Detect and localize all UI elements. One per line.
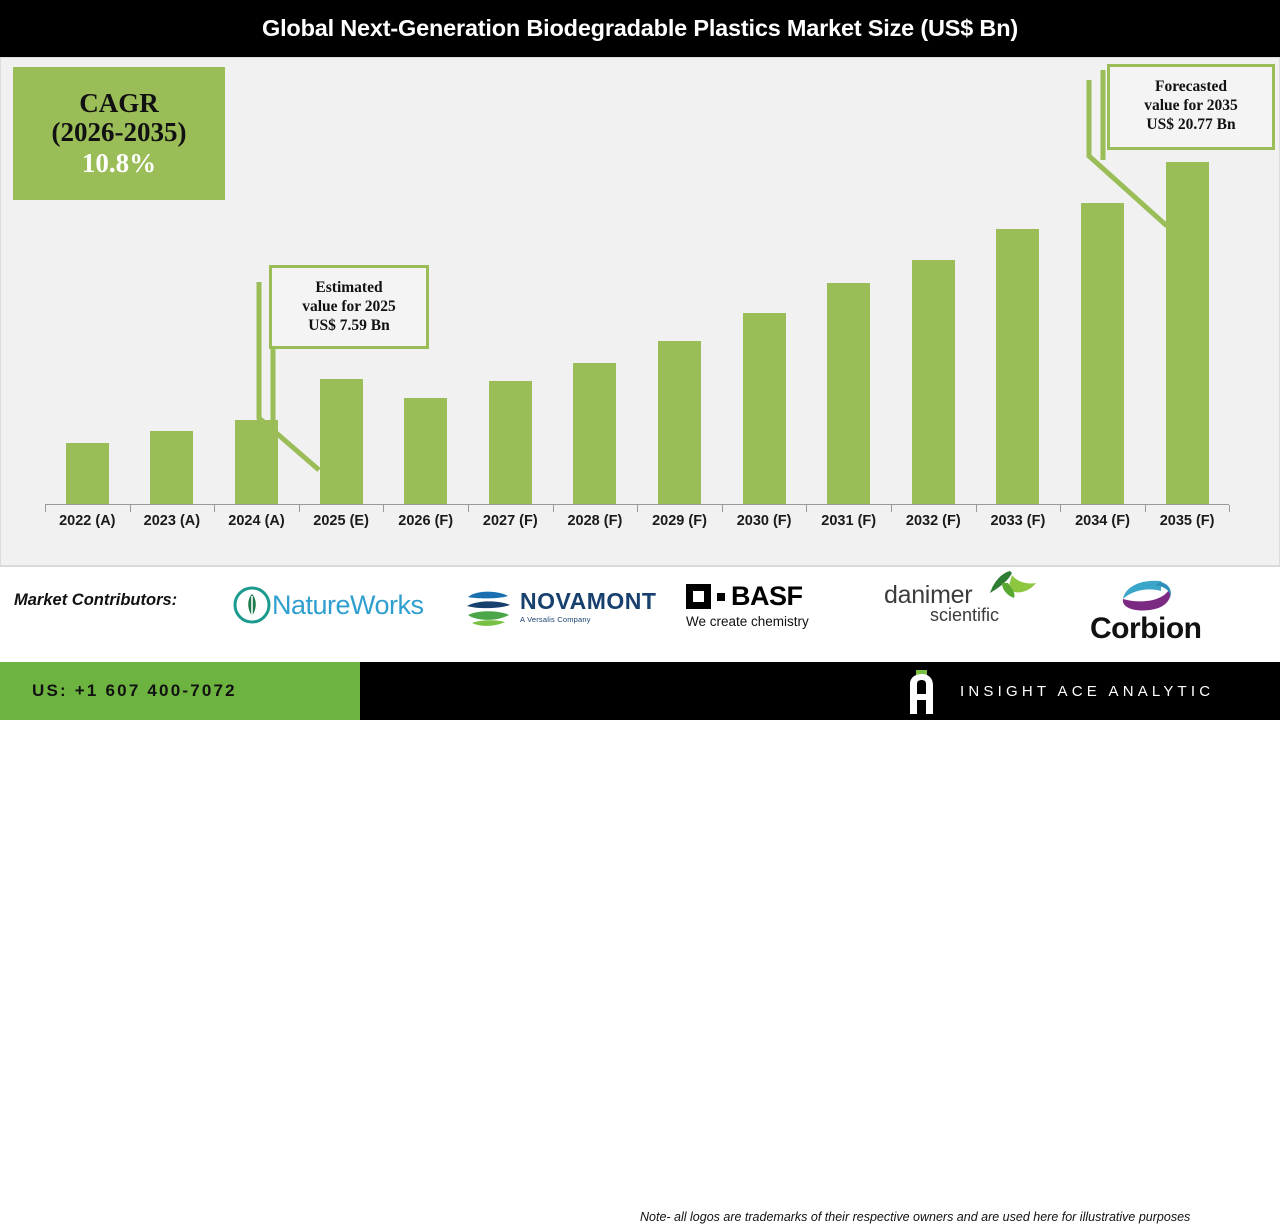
x-axis-label-2026: 2026 (F): [383, 513, 469, 529]
footer-bar: US: +1 607 400-7072 INSIGHT ACE ANALYTIC: [0, 662, 1280, 720]
basf-dot-icon: [717, 593, 725, 601]
cagr-box: CAGR (2026-2035) 10.8%: [13, 67, 225, 200]
novamont-wordmark: NOVAMONT: [520, 590, 656, 613]
x-axis-label-2029: 2029 (F): [637, 513, 723, 529]
insightace-logo-icon: [900, 670, 944, 714]
bar-2024: [235, 420, 278, 504]
x-axis-label-2032: 2032 (F): [890, 513, 976, 529]
x-axis-label-2023: 2023 (A): [129, 513, 215, 529]
x-axis-label-2033: 2033 (F): [975, 513, 1061, 529]
bar-2023: [150, 431, 193, 504]
x-axis-label-2027: 2027 (F): [467, 513, 553, 529]
footer-phone-number[interactable]: US: +1 607 400-7072: [32, 681, 237, 701]
novamont-text-block: NOVAMONT A Versalis Company: [520, 590, 656, 624]
bar-2033: [996, 229, 1039, 504]
logo-natureworks: NatureWorks: [232, 585, 424, 625]
market-contributors-label: Market Contributors:: [14, 591, 177, 610]
estimated-value-callout: Estimated value for 2025 US$ 7.59 Bn: [269, 265, 429, 349]
x-axis-label-2024: 2024 (A): [214, 513, 300, 529]
novamont-mark-icon: [462, 583, 514, 631]
estimated-line-2: value for 2025: [272, 297, 426, 316]
logo-basf: BASF We create chemistry: [686, 581, 809, 629]
natureworks-wordmark: NatureWorks: [272, 590, 424, 621]
bar-2032: [912, 260, 955, 504]
cagr-period: (2026-2035): [52, 118, 187, 147]
logo-novamont: NOVAMONT A Versalis Company: [462, 583, 656, 631]
x-axis-tick: [468, 505, 469, 512]
estimated-line-3: US$ 7.59 Bn: [272, 316, 426, 335]
market-contributors-strip: Market Contributors: NatureWorks NOVAMON…: [0, 566, 1280, 663]
x-axis-label-2022: 2022 (A): [44, 513, 130, 529]
basf-tagline: We create chemistry: [686, 614, 809, 629]
bar-2028: [573, 363, 616, 504]
x-axis-label-2030: 2030 (F): [721, 513, 807, 529]
corbion-wordmark: Corbion: [1090, 614, 1201, 644]
x-axis-tick: [383, 505, 384, 512]
footer-brand-block: INSIGHT ACE ANALYTIC: [960, 662, 1214, 720]
x-axis-label-2034: 2034 (F): [1060, 513, 1146, 529]
infographic-page: Global Next-Generation Biodegradable Pla…: [0, 0, 1280, 720]
x-axis-tick: [722, 505, 723, 512]
forecasted-line-2: value for 2035: [1110, 96, 1272, 115]
forecasted-value-callout: Forecasted value for 2035 US$ 20.77 Bn: [1107, 64, 1275, 150]
bar-2022: [66, 443, 109, 504]
x-axis-tick: [891, 505, 892, 512]
logo-trademark-note: Note- all logos are trademarks of their …: [640, 1210, 1274, 1226]
x-axis-label-2031: 2031 (F): [806, 513, 892, 529]
x-axis-label-2035: 2035 (F): [1144, 513, 1230, 529]
danimer-leaf-icon: [982, 569, 1038, 599]
danimer-wordmark: danimer: [884, 581, 972, 609]
x-axis-tick: [637, 505, 638, 512]
x-axis-tick: [1145, 505, 1146, 512]
cagr-value: 10.8%: [82, 148, 156, 178]
x-axis-label-2025: 2025 (E): [298, 513, 384, 529]
x-axis-tick: [553, 505, 554, 512]
bar-2029: [658, 341, 701, 504]
forecasted-line-1: Forecasted: [1110, 77, 1272, 96]
footer-contact-block: US: +1 607 400-7072: [0, 662, 360, 720]
header-bar: Global Next-Generation Biodegradable Pla…: [0, 0, 1280, 57]
forecasted-line-3: US$ 20.77 Bn: [1110, 115, 1272, 134]
basf-wordmark: BASF: [731, 581, 803, 612]
basf-mark-row: BASF: [686, 581, 803, 612]
basf-square-icon: [686, 584, 711, 609]
bar-2027: [489, 381, 532, 504]
novamont-tagline: A Versalis Company: [520, 616, 656, 624]
x-axis-tick: [45, 505, 46, 512]
bar-2031: [827, 283, 870, 504]
x-axis-tick: [806, 505, 807, 512]
bar-2035: [1166, 162, 1209, 504]
logo-danimer-scientific: danimer scientific: [884, 583, 999, 624]
chart-panel: CAGR (2026-2035) 10.8% Estimated value f…: [0, 57, 1280, 566]
bar-2030: [743, 313, 786, 504]
bar-2025: [320, 379, 363, 504]
bar-2034: [1081, 203, 1124, 504]
estimated-line-1: Estimated: [272, 278, 426, 297]
x-axis-tick: [214, 505, 215, 512]
corbion-mark-icon: [1115, 579, 1177, 613]
x-axis-tick: [1229, 505, 1230, 512]
bar-chart-plot: CAGR (2026-2035) 10.8% Estimated value f…: [1, 58, 1280, 567]
cagr-title: CAGR: [79, 89, 159, 118]
x-axis-tick: [976, 505, 977, 512]
x-axis-label-2028: 2028 (F): [552, 513, 638, 529]
x-axis-tick: [1060, 505, 1061, 512]
bar-2026: [404, 398, 447, 504]
x-axis-tick: [299, 505, 300, 512]
natureworks-mark-icon: [232, 585, 272, 625]
x-axis-tick: [130, 505, 131, 512]
page-title: Global Next-Generation Biodegradable Pla…: [262, 15, 1018, 42]
logo-corbion: Corbion: [1090, 579, 1201, 644]
footer-brand-name: INSIGHT ACE ANALYTIC: [960, 683, 1214, 700]
